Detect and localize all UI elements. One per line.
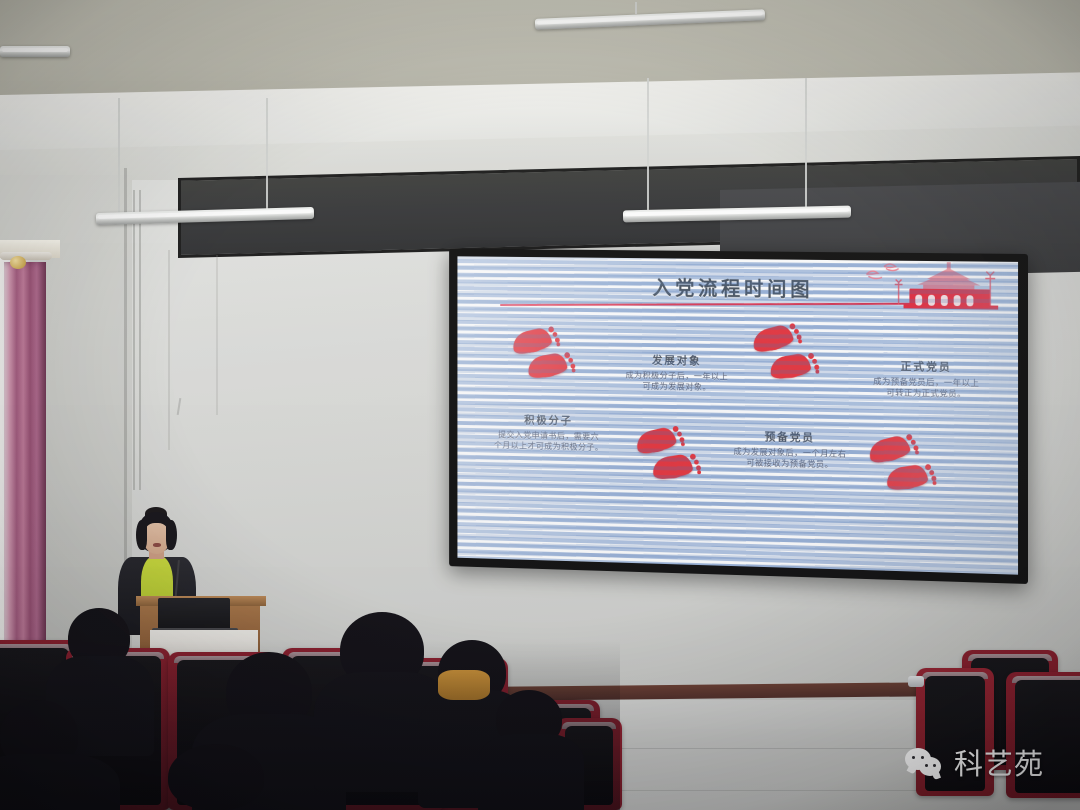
wall-conduit-4 — [216, 255, 218, 415]
footprint-pair-3 — [635, 432, 705, 494]
wall-conduit-2 — [139, 190, 141, 490]
footprint-pair-1 — [511, 332, 580, 393]
ceiling-light-4 — [623, 78, 851, 223]
ceiling-light-2 — [535, 2, 765, 34]
step-body: 成为发展对象后，一个月左右 可被接收为预备党员。 — [713, 446, 867, 472]
tiananmen-gate-icon — [855, 258, 1012, 313]
curtain-ring — [10, 256, 26, 269]
laptop-screen[interactable] — [158, 598, 230, 630]
projection-screen[interactable]: 入党流程时间图 — [449, 249, 1028, 584]
footprint-pair-2 — [751, 330, 822, 392]
ceiling-light-1 — [0, 36, 70, 64]
curtain-rod — [0, 252, 52, 260]
lecture-hall-photo: 入党流程时间图 — [0, 0, 1080, 810]
audience-scarf — [438, 670, 490, 700]
step-heading: 积极分子 — [478, 411, 620, 429]
slide-surface: 入党流程时间图 — [457, 256, 1018, 574]
mouth — [153, 543, 161, 547]
step-body: 成为积极分子后，一年以上 可成为发展对象。 — [605, 370, 750, 395]
step-body: 提交入党申请书后，需要六 个月以上才可成为积极分子。 — [478, 429, 620, 454]
step-heading: 预备党员 — [713, 427, 867, 446]
wechat-icon — [905, 748, 945, 780]
step-caption-4: 正式党员 成为预备党员后，一年以上 可转正为正式党员。 — [852, 357, 1001, 401]
step-caption-1: 积极分子 提交入党申请书后，需要六 个月以上才可成为积极分子。 — [478, 411, 620, 455]
hair-left-strand — [136, 520, 147, 550]
hair-right-strand — [166, 520, 177, 550]
window-curtain — [4, 262, 46, 662]
wall-conduit-1 — [133, 190, 135, 490]
wall-conduit-3 — [168, 250, 170, 450]
step-heading: 正式党员 — [852, 357, 1001, 375]
step-caption-3: 预备党员 成为发展对象后，一个月左右 可被接收为预备党员。 — [713, 427, 867, 472]
ceiling-light-3 — [96, 98, 314, 224]
step-heading: 发展对象 — [605, 351, 750, 369]
step-caption-2: 发展对象 成为积极分子后，一年以上 可成为发展对象。 — [605, 351, 750, 395]
watermark: 科艺苑 — [905, 748, 1044, 780]
footprint-pair-4 — [867, 441, 940, 504]
step-body: 成为预备党员后，一年以上 可转正为正式党员。 — [852, 376, 1001, 402]
watermark-channel: 科艺苑 — [954, 750, 1044, 779]
